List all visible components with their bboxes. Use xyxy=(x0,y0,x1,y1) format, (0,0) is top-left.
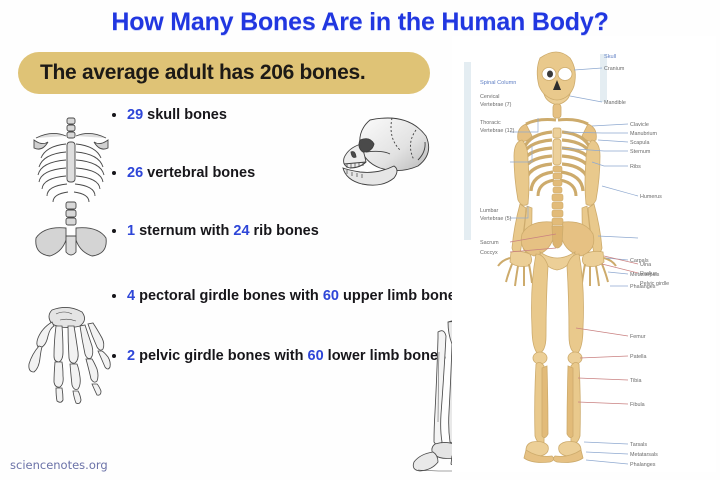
skeleton-figure xyxy=(498,52,616,463)
bullet-number: 26 xyxy=(127,165,143,181)
bullet-text: pelvic girdle bones with xyxy=(135,348,307,364)
label-patella: Patella xyxy=(630,354,646,360)
bullet-text-secondary: upper limb bones xyxy=(339,288,464,304)
label-lumbar-vertebrae: Lumbar xyxy=(480,208,498,214)
bullet-text: pectoral girdle bones with xyxy=(135,288,323,304)
summary-banner: The average adult has 206 bones. xyxy=(18,52,430,94)
infographic-page: How Many Bones Are in the Human Body? Th… xyxy=(0,0,720,480)
skull-profile-illustration xyxy=(330,110,442,194)
summary-banner-text: The average adult has 206 bones. xyxy=(18,61,365,85)
label-spinal-column: Spinal Column xyxy=(480,80,516,86)
bullet-number: 1 xyxy=(127,223,135,239)
diagram-left-band xyxy=(464,62,471,240)
label-tarsals: Tarsals xyxy=(630,442,647,448)
page-title: How Many Bones Are in the Human Body? xyxy=(0,8,720,37)
label-lumbar-vertebrae-2: Vertebrae (5) xyxy=(480,216,512,222)
list-item: 1 sternum with 24 rib bones xyxy=(110,218,470,244)
bullet-number: 2 xyxy=(127,348,135,364)
bullet-text: vertebral bones xyxy=(143,165,255,181)
label-manubrium: Manubrium xyxy=(630,131,657,137)
label-mandible: Mandible xyxy=(604,100,626,106)
label-phalanges-hand: Phalanges xyxy=(630,284,656,290)
bullet-number-secondary: 24 xyxy=(233,223,249,239)
bullet-number: 29 xyxy=(127,107,143,123)
bullet-number-secondary: 60 xyxy=(308,348,324,364)
bullet-text: skull bones xyxy=(143,107,227,123)
label-thoracic-vertebrae-2: Vertebrae (12) xyxy=(480,128,515,134)
label-sacrum: Sacrum xyxy=(480,240,499,246)
label-thoracic-vertebrae: Thoracic xyxy=(480,120,501,126)
torso-skeleton-illustration xyxy=(22,112,120,260)
diagram-right-band xyxy=(600,54,607,102)
label-phalanges-foot: Phalanges xyxy=(630,462,656,468)
hand-skeleton-illustration xyxy=(18,302,114,406)
label-cranium: Cranium xyxy=(604,66,625,72)
label-metacarpals: Metacarpals xyxy=(630,272,660,278)
label-fibula: Fibula xyxy=(630,402,645,408)
label-humerus: Humerus xyxy=(640,194,662,200)
bullet-text-secondary: rib bones xyxy=(250,223,319,239)
list-item: 4 pectoral girdle bones with 60 upper li… xyxy=(110,283,470,309)
site-watermark: sciencenotes.org xyxy=(10,458,108,472)
label-tibia: Tibia xyxy=(630,378,641,384)
label-skull: Skull xyxy=(604,54,616,60)
label-cervical-vertebrae-2: Vertebrae (7) xyxy=(480,102,512,108)
label-ribs: Ribs xyxy=(630,164,641,170)
label-cervical-vertebrae: Cervical xyxy=(480,94,499,100)
bullet-number-secondary: 60 xyxy=(323,288,339,304)
label-carpals: Carpals xyxy=(630,258,649,264)
label-coccyx: Coccyx xyxy=(480,250,498,256)
label-femur: Femur xyxy=(630,334,646,340)
label-sternum: Sternum xyxy=(630,149,651,155)
bullet-number: 4 xyxy=(127,288,135,304)
bullet-text: sternum with xyxy=(135,223,233,239)
label-metatarsals: Metatarsals xyxy=(630,452,658,458)
label-scapula: Scapula xyxy=(630,140,649,146)
labeled-skeleton-diagram: Spinal Column Cervical Vertebrae (7) Tho… xyxy=(452,36,716,472)
label-clavicle: Clavicle xyxy=(630,122,649,128)
